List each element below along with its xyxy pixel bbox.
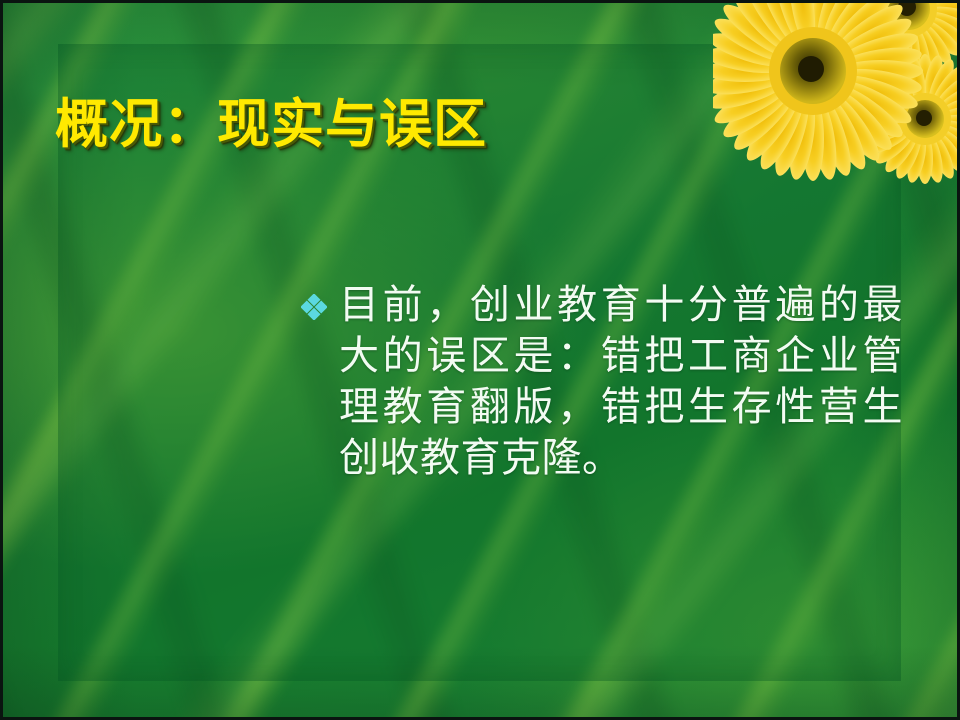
body-content: 目前，创业教育十分普遍的最大的误区是：错把工商企业管理教育翻版，错把生存性营生创… bbox=[301, 280, 903, 484]
list-item-label: 目前，创业教育十分普遍的最大的误区是：错把工商企业管理教育翻版，错把生存性营生创… bbox=[339, 280, 903, 484]
list-item: 目前，创业教育十分普遍的最大的误区是：错把工商企业管理教育翻版，错把生存性营生创… bbox=[301, 280, 903, 484]
presentation-slide: 概况：现实与误区 目前，创业教育十分普遍的最大的误区是：错把工商企业管理教育翻版… bbox=[0, 0, 960, 720]
diamond-cluster-bullet-icon bbox=[301, 280, 339, 320]
page-title: 概况：现实与误区 bbox=[55, 95, 487, 154]
